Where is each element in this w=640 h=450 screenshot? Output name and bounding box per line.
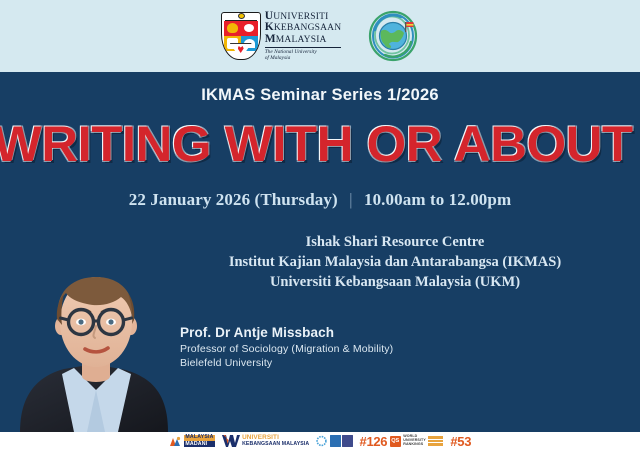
seminar-series-label: IKMAS Seminar Series 1/2026 — [0, 86, 640, 105]
ranking-badge-2: #53 — [450, 434, 471, 449]
ukm-line3: MALAYSIA — [276, 35, 327, 45]
venue-line-2: Institut Kajian Malaysia dan Antarabangs… — [150, 252, 640, 272]
madani-line1: MALAYSIA — [184, 435, 214, 441]
ukm-footer-logo: UNIVERSITI KEBANGSAAN MALAYSIA — [222, 435, 310, 447]
event-date: 22 January 2026 (Thursday) — [129, 190, 338, 209]
ukm-wordmark: UUNIVERSITI KKEBANGSAAN MMALAYSIA The Na… — [265, 11, 342, 62]
qs-caption-3: RANKINGS — [403, 443, 426, 447]
ukm-tagline2: of Malaysia — [265, 55, 342, 61]
speaker-name: Prof. Dr Antje Missbach — [180, 325, 510, 340]
qs-logo-icon: QS — [390, 436, 401, 447]
poster-title: WRITING WITH OR ABOUT REFUGEES — [0, 118, 640, 170]
speaker-info: Prof. Dr Antje Missbach Professor of Soc… — [180, 325, 510, 370]
malaysia-madani-logo: MALAYSIA MADANI — [169, 435, 215, 448]
sdg-logos — [316, 435, 352, 447]
seminar-poster: UUNIVERSITI KKEBANGSAAN MMALAYSIA The Na… — [0, 0, 640, 450]
venue-line-1: Ishak Shari Resource Centre — [150, 232, 640, 252]
logo-header-band: UUNIVERSITI KKEBANGSAAN MMALAYSIA The Na… — [0, 0, 640, 72]
date-time-line: 22 January 2026 (Thursday) | 10.00am to … — [0, 190, 640, 210]
madani-line2: MADANI — [184, 441, 214, 447]
madani-emblem-icon — [169, 436, 182, 447]
venue-block: Ishak Shari Resource Centre Institut Kaj… — [150, 232, 640, 292]
speaker-portrait-photo — [10, 264, 182, 432]
event-time: 10.00am to 12.00pm — [364, 190, 511, 209]
date-time-separator: | — [349, 190, 353, 210]
ukm-footer-line2: KEBANGSAAN MALAYSIA — [242, 442, 309, 447]
venue-line-3: Universiti Kebangsaan Malaysia (UKM) — [150, 272, 640, 292]
sdg-tile-2 — [342, 435, 353, 447]
ikmas-globe-icon — [367, 10, 419, 62]
speaker-role: Professor of Sociology (Migration & Mobi… — [180, 342, 510, 356]
ukm-logo: UUNIVERSITI KKEBANGSAAN MMALAYSIA The Na… — [221, 11, 342, 62]
ukm-w-icon — [222, 435, 240, 447]
sdg-tile-1 — [330, 435, 341, 447]
ukm-line1: UNIVERSITI — [273, 12, 328, 22]
sdg-wheel-icon — [316, 435, 327, 447]
qs-bars-icon — [428, 436, 443, 446]
qs-caption: WORLD UNIVERSITY RANKINGS — [403, 435, 426, 446]
ukm-line2: KEBANGSAAN — [274, 23, 341, 33]
ranking-2-value: #53 — [450, 434, 471, 449]
ukm-shield-icon — [221, 12, 261, 60]
footer-logo-bar: MALAYSIA MADANI UNIVERSITI KEBANGSAAN MA… — [0, 432, 640, 450]
ranking-badge-1: #126 QS WORLD UNIVERSITY RANKINGS — [360, 434, 444, 449]
ranking-1-value: #126 — [360, 434, 388, 449]
speaker-affiliation: Bielefeld University — [180, 356, 510, 370]
